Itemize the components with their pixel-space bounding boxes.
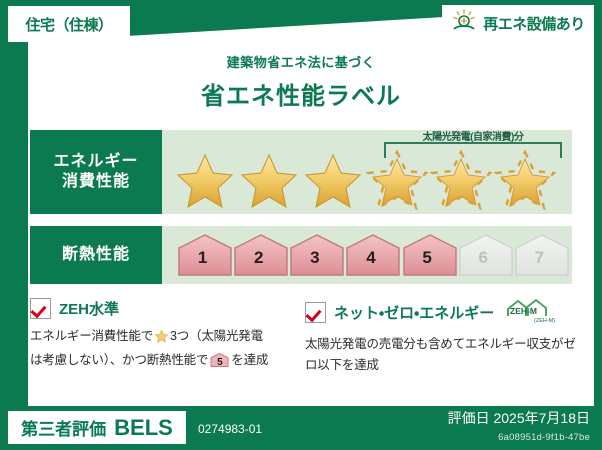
- insulation-performance-label-box: 断熱性能: [30, 226, 162, 284]
- star-rating: [174, 148, 566, 212]
- insulation-level-marker: 7: [513, 232, 566, 278]
- bels-logo: BELS: [114, 415, 173, 441]
- star-icon-inline: [154, 329, 169, 350]
- title-subtitle: 建築物省エネ法に基づく: [0, 52, 602, 71]
- star-icon-solar: [494, 150, 556, 210]
- criterion-nze-description: 太陽光発電の売電分も含めてエネルギー収支がゼロ以下を達成: [305, 334, 585, 375]
- checkbox-checked-icon: [305, 302, 326, 323]
- star-icon-solar: [430, 150, 492, 210]
- evaluation-date-label: 評価日: [448, 410, 490, 426]
- star-icon: [174, 150, 236, 210]
- insulation-level-value: 4: [344, 248, 397, 268]
- renewable-equipment-label: 再エネ設備あり: [483, 13, 585, 34]
- star-icon: [238, 150, 300, 210]
- criterion-zeh-description: エネルギー消費性能で3つ（太陽光発電は考慮しない）、かつ断熱性能で5を達成: [30, 326, 298, 370]
- energy-label-line-2: 消費性能: [62, 172, 130, 192]
- insulation-rating-panel: 1 2 3 4: [162, 226, 572, 284]
- page-title: 省エネ性能ラベル: [0, 76, 602, 111]
- svg-text:ZEH-M: ZEH-M: [510, 306, 537, 316]
- criterion-zeh-text-1: エネルギー消費性能で: [30, 329, 153, 343]
- insulation-level-value: 1: [176, 248, 229, 268]
- insulation-level-marker: 5: [401, 232, 454, 278]
- criterion-zeh-text-2: は考慮しない）、かつ断熱性能で: [30, 353, 208, 367]
- insulation-level-value: 3: [288, 248, 341, 268]
- insulation-level-marker: 4: [344, 232, 397, 278]
- solar-caption: 太陽光発電(自家消費)分: [374, 128, 572, 143]
- criterion-nze-header: ネット・ゼロ・エネルギー ZEH-M (ZEH-M): [305, 298, 585, 327]
- building-type-tag: 住宅（住棟）: [8, 6, 130, 42]
- bels-certification-mark: 第三者評価 BELS: [8, 411, 186, 444]
- house-icon-inline: 5: [210, 352, 229, 368]
- renewable-equipment-badge: 再エネ設備あり: [442, 5, 594, 41]
- energy-rating-panel: 太陽光発電(自家消費)分: [162, 130, 572, 214]
- criterion-net-zero-energy: ネット・ゼロ・エネルギー ZEH-M (ZEH-M) 太陽光発電の売電分も含めて…: [305, 298, 585, 375]
- insulation-level-scale: 1 2 3 4: [176, 230, 566, 280]
- energy-performance-label: 住宅（住棟） 再エネ設備あり 建築物省エネ法に基づく 省エネ性能ラベル: [0, 0, 602, 450]
- third-party-evaluation-label: 第三者評価: [21, 415, 106, 440]
- label-hash-id: 6a08951d-9f1b-47be: [498, 432, 590, 443]
- star-icon: [302, 150, 364, 210]
- insulation-level-value: 2: [232, 248, 285, 268]
- energy-label-line-1: エネルギー: [53, 152, 138, 172]
- insulation-level-marker: 2: [232, 232, 285, 278]
- star-icon-solar: [366, 150, 428, 210]
- energy-performance-row: エネルギー 消費性能 太陽光発電(自家消費)分: [30, 130, 572, 214]
- criterion-zeh-house-value: 5: [210, 355, 229, 372]
- energy-performance-label-box: エネルギー 消費性能: [30, 130, 162, 214]
- criterion-zeh-star-count: 3つ（太陽光発電: [170, 329, 263, 343]
- checkbox-checked-icon: [30, 298, 51, 319]
- criterion-zeh-title: ZEH水準: [59, 298, 119, 319]
- building-type-label: 住宅（住棟）: [25, 14, 112, 35]
- criterion-nze-title: ネット・ゼロ・エネルギー: [334, 302, 494, 323]
- insulation-level-value: 5: [401, 248, 454, 268]
- zeh-m-badge-icon: ZEH-M (ZEH-M): [504, 298, 556, 327]
- insulation-level-marker: 3: [288, 232, 341, 278]
- criterion-zeh-text-3: を達成: [231, 353, 268, 367]
- criterion-zeh-standard: ZEH水準 エネルギー消費性能で3つ（太陽光発電は考慮しない）、かつ断熱性能で5…: [30, 298, 298, 370]
- svg-text:(ZEH-M): (ZEH-M): [534, 318, 555, 324]
- insulation-level-marker: 1: [176, 232, 229, 278]
- certificate-number: 0274983-01: [198, 422, 262, 436]
- evaluation-date: 評価日 2025年7月18日: [448, 408, 590, 428]
- insulation-level-value: 6: [457, 248, 510, 268]
- insulation-label: 断熱性能: [62, 245, 130, 265]
- evaluation-date-value: 2025年7月18日: [493, 410, 590, 426]
- label-title-block: 建築物省エネ法に基づく 省エネ性能ラベル: [0, 52, 602, 111]
- sun-icon: [451, 9, 477, 37]
- insulation-level-marker: 6: [457, 232, 510, 278]
- insulation-level-value: 7: [513, 248, 566, 268]
- insulation-performance-row: 断熱性能 1: [30, 226, 572, 284]
- criterion-zeh-header: ZEH水準: [30, 298, 298, 319]
